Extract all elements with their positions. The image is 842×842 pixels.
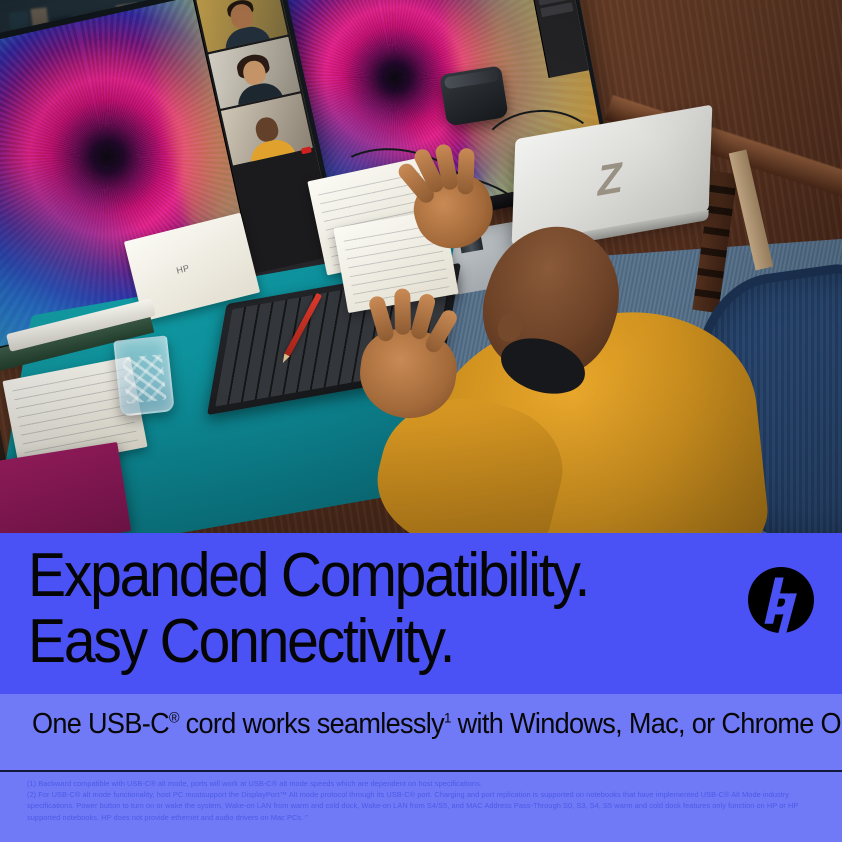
headline-band: Expanded Compatibility.Easy Connectivity… [0, 533, 842, 694]
usb-c-dock [439, 65, 508, 126]
water-glass [113, 335, 175, 416]
hp-circle-logo-icon [748, 567, 814, 633]
finger [457, 148, 475, 195]
subtitle: One USB-C® cord works seamlessly1 with W… [32, 708, 842, 741]
subtitle-part-3: with Windows, Mac, or Chrome OS. [451, 708, 842, 740]
subtitle-part-2: cord works seamlessly [179, 708, 444, 740]
footnote-marker: 1 [444, 710, 451, 726]
headline-line-2: Easy Connectivity. [28, 607, 453, 676]
dock-top-surface [444, 69, 499, 89]
footnote-1: (1) Backward compatible with USB-C® alt … [27, 778, 827, 789]
hero-photo: HP Z HP [0, 0, 842, 533]
end-call-button[interactable] [301, 146, 312, 154]
glass-ice [122, 354, 167, 404]
hp-paper-logo: HP [175, 263, 190, 276]
footnotes: (1) Backward compatible with USB-C® alt … [27, 778, 827, 823]
headline-line-1: Expanded Compatibility. [28, 541, 588, 610]
footnote-2: (2) For USB-C® alt mode functionality, h… [27, 789, 827, 823]
hp-marketing-banner: HP Z HP [0, 0, 842, 842]
page-title: Expanded Compatibility.Easy Connectivity… [28, 543, 588, 675]
registered-mark: ® [169, 710, 179, 727]
divider-rule [0, 770, 842, 772]
finger [394, 289, 411, 335]
z-brand-logo: Z [596, 156, 624, 203]
subtitle-band: One USB-C® cord works seamlessly1 with W… [0, 694, 842, 842]
rail-row [540, 2, 573, 17]
subtitle-part-1: One USB-C [32, 708, 169, 740]
